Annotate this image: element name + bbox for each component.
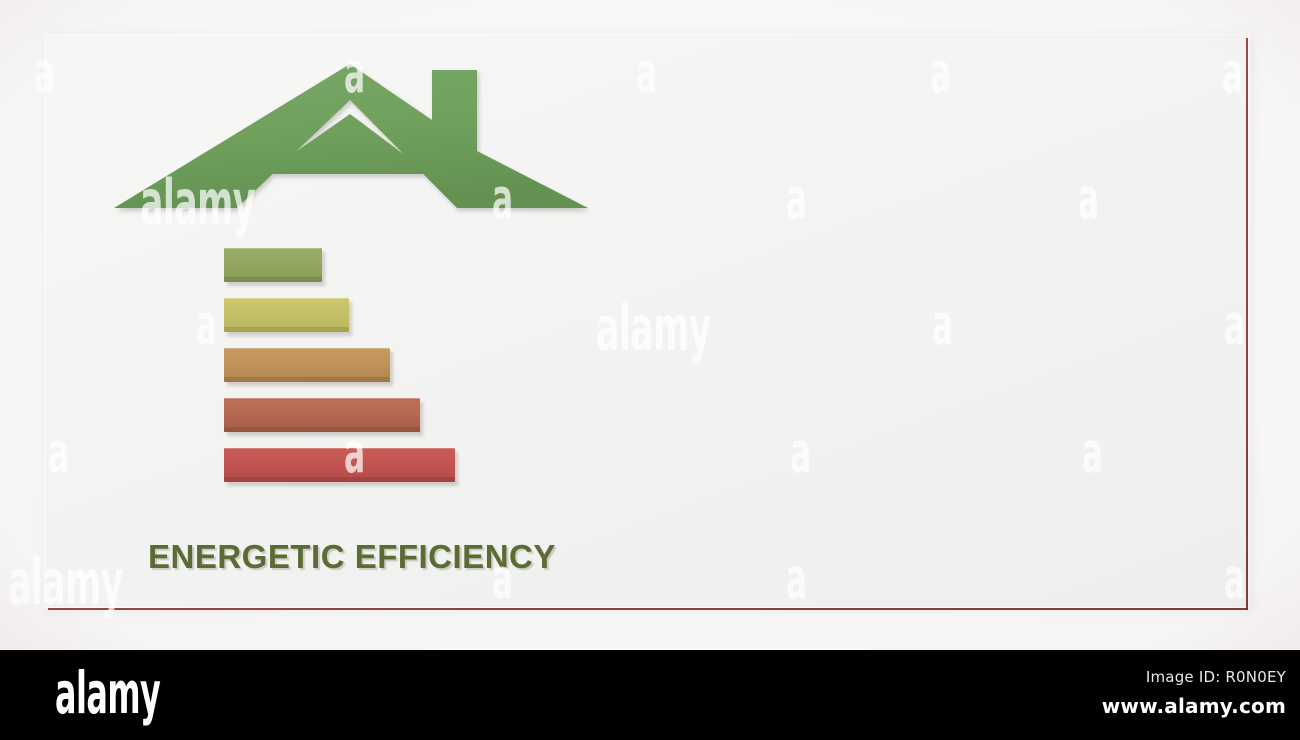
efficiency-bar-2: [224, 298, 349, 332]
card-border-right: [1246, 38, 1248, 610]
efficiency-bar-1: [224, 248, 322, 282]
efficiency-bar-5: [224, 448, 455, 482]
website-url-label: www.alamy.com: [1102, 694, 1286, 718]
card-border-bottom: [48, 608, 1248, 610]
screenshot-stage: ENERGETIC EFFICIENCY aaaaaalamyaaaaalamy…: [0, 0, 1300, 740]
page-title: ENERGETIC EFFICIENCY: [148, 538, 556, 576]
efficiency-bar-3: [224, 348, 390, 382]
efficiency-bar-chart: [224, 248, 455, 498]
footer-bar: alamy Image ID: R0N0EY www.alamy.com: [0, 650, 1300, 740]
image-id-label: Image ID: R0N0EY: [1146, 668, 1286, 686]
efficiency-bar-4: [224, 398, 420, 432]
photo-canvas: ENERGETIC EFFICIENCY aaaaaalamyaaaaalamy…: [0, 0, 1300, 650]
house-roof-icon: [112, 62, 590, 212]
alamy-logo: alamy: [55, 664, 160, 722]
